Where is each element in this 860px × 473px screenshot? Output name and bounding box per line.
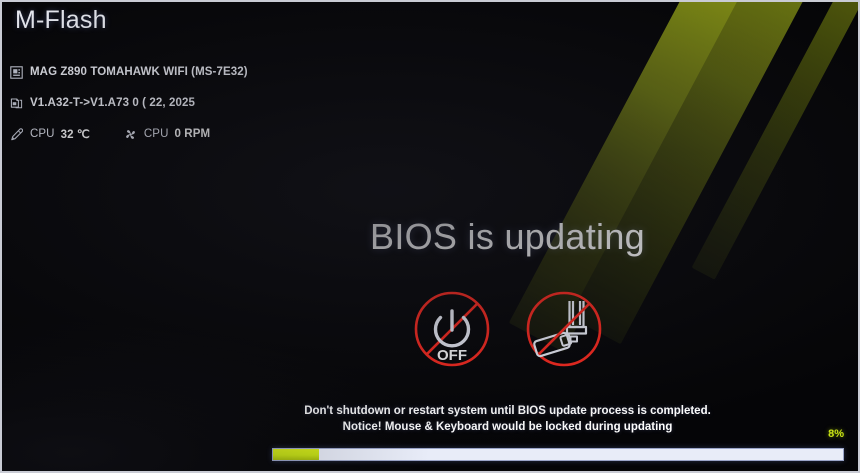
- warning-text-block: Don't shutdown or restart system until B…: [2, 403, 858, 435]
- thermometer-icon: [10, 128, 23, 141]
- bios-version-text: V1.A32-T->V1.A73 0 ( 22, 2025: [30, 97, 195, 109]
- progress-bar-track: [272, 448, 844, 461]
- cpu-fan-label: CPU: [144, 128, 169, 140]
- no-power-off-icon: OFF: [410, 287, 494, 371]
- sensors-row: CPU 32 ℃ CPU 0 RPM: [10, 126, 248, 142]
- cpu-fan-group: CPU 0 RPM: [144, 128, 210, 140]
- no-usb-unplug-icon: [522, 287, 606, 371]
- status-headline: BIOS is updating: [2, 216, 858, 258]
- m-flash-screen: M-Flash MAG Z890 TOMAHAWK WIFI (MS-7E32): [0, 0, 860, 473]
- warning-line-1: Don't shutdown or restart system until B…: [157, 403, 858, 419]
- cpu-temp-value: 32 ℃: [61, 127, 90, 141]
- motherboard-icon: [10, 66, 23, 79]
- warning-icon-row: OFF: [2, 287, 858, 371]
- bios-version-row: V1.A32-T->V1.A73 0 ( 22, 2025: [10, 95, 248, 111]
- svg-text:OFF: OFF: [437, 347, 467, 364]
- cpu-fan-value: 0 RPM: [175, 128, 211, 140]
- progress-bar-fill: [273, 449, 319, 460]
- progress-area: 8%: [272, 448, 844, 461]
- cpu-temperature-group: CPU 32 ℃: [30, 127, 90, 141]
- cpu-temp-label: CPU: [30, 128, 55, 140]
- chip-copy-icon: [10, 97, 23, 110]
- warning-line-2: Notice! Mouse & Keyboard would be locked…: [157, 419, 858, 435]
- motherboard-model: MAG Z890 TOMAHAWK WIFI (MS-7E32): [30, 66, 248, 78]
- progress-percent-label: 8%: [828, 428, 844, 440]
- page-title: M-Flash: [15, 6, 107, 35]
- system-info-list: MAG Z890 TOMAHAWK WIFI (MS-7E32) V1.A32-…: [10, 64, 248, 157]
- motherboard-info-row: MAG Z890 TOMAHAWK WIFI (MS-7E32): [10, 64, 248, 80]
- fan-icon: [124, 128, 137, 141]
